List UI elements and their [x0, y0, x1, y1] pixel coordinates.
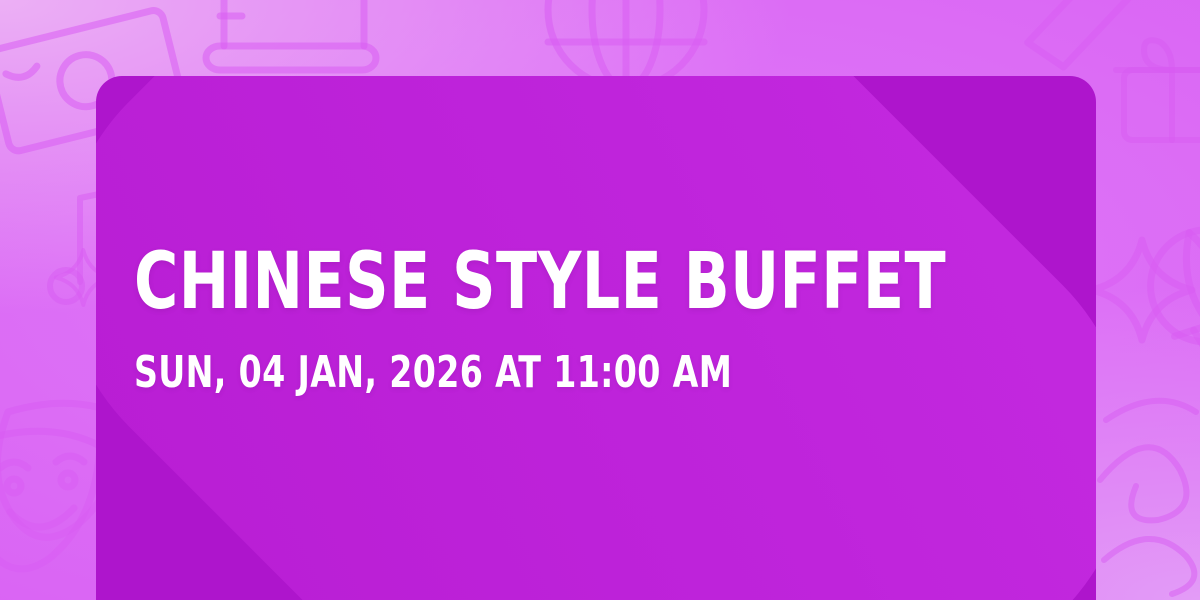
- balloon-icon: [1136, 215, 1200, 369]
- gift-icon: [1116, 40, 1200, 140]
- projector-icon: [206, 0, 376, 70]
- sparkle-icon: [1092, 240, 1192, 340]
- event-datetime: Sun, 04 Jan, 2026 at 11:00 AM: [134, 351, 907, 395]
- event-card: Chinese Style Buffet Sun, 04 Jan, 2026 a…: [96, 76, 1096, 600]
- card-content: Chinese Style Buffet Sun, 04 Jan, 2026 a…: [134, 76, 1054, 600]
- event-banner: Chinese Style Buffet Sun, 04 Jan, 2026 a…: [0, 0, 1200, 600]
- event-title: Chinese Style Buffet: [134, 247, 925, 319]
- confetti-popper-icon: [1003, 0, 1200, 76]
- globe-icon: [548, 0, 704, 88]
- streamer-swirl-icon: [1100, 401, 1196, 594]
